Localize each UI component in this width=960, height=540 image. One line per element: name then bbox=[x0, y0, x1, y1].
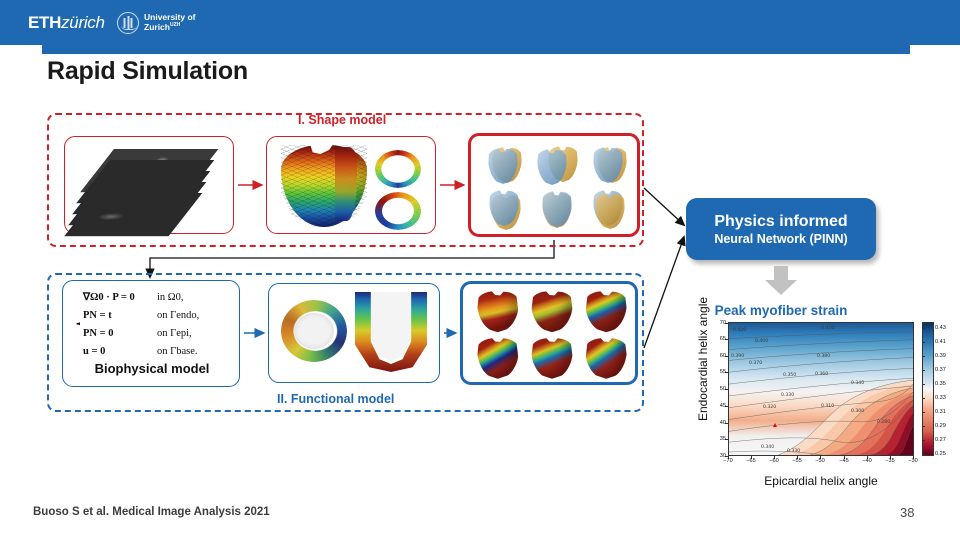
fiber-strain-grid bbox=[472, 290, 632, 380]
colorbar-tickmark bbox=[922, 384, 925, 385]
y-tick-label: 55 bbox=[716, 369, 726, 375]
contour-label: 0.360 bbox=[815, 372, 828, 377]
contour-label: 0.390 bbox=[731, 354, 744, 359]
pinn-title: Physics informed bbox=[714, 213, 847, 231]
functional-model-label: II. Functional model bbox=[277, 392, 394, 406]
contour-label: 0.340 bbox=[761, 445, 774, 450]
equation-row: PN = t on Γendo, bbox=[83, 306, 233, 324]
equation-rhs: on Γepi, bbox=[157, 328, 192, 339]
biophysical-model-panel[interactable]: { ∇Ω0 · P = 0 in Ω0, PN = t on Γendo, PN… bbox=[62, 280, 240, 387]
equation-rhs: on Γbase. bbox=[157, 346, 197, 357]
shape-modes-grid bbox=[480, 144, 634, 230]
down-arrow-icon bbox=[763, 266, 799, 296]
y-tick-label: 35 bbox=[716, 436, 726, 442]
equation-row: u = 0 on Γbase. bbox=[83, 342, 233, 360]
colorbar-tick-label: 0.25 bbox=[935, 451, 946, 457]
y-tick-label: 50 bbox=[716, 386, 726, 392]
colorbar-tick-label: 0.31 bbox=[935, 409, 946, 415]
university-of-zurich-logo: University of ZurichUZH bbox=[117, 12, 196, 34]
pinn-subtitle: Neural Network (PINN) bbox=[714, 232, 847, 246]
eth-logo-italic: zürich bbox=[61, 13, 105, 32]
colorbar-tickmark bbox=[922, 426, 925, 427]
contour-label: 0.350 bbox=[783, 373, 796, 378]
contour-label: 0.410 bbox=[821, 326, 834, 331]
colorbar-tick-label: 0.29 bbox=[935, 423, 946, 429]
y-tick-label: 70 bbox=[716, 320, 726, 326]
equation-row: ∇Ω0 · P = 0 in Ω0, bbox=[83, 288, 233, 306]
contour-label: 0.380 bbox=[817, 354, 830, 359]
contour-label: 0.330 bbox=[787, 449, 800, 454]
x-tick-label: −60 bbox=[769, 458, 779, 464]
equation-system: { ∇Ω0 · P = 0 in Ω0, PN = t on Γendo, PN… bbox=[71, 288, 233, 360]
shape-thumbnail bbox=[537, 190, 577, 228]
shape-thumbnail bbox=[589, 146, 629, 184]
fiber-strain-thumbnail bbox=[477, 291, 519, 332]
colorbar-tickmark bbox=[922, 370, 925, 371]
contour-plot-frame: 0.420 0.410 0.400 0.390 0.380 0.370 0.35… bbox=[728, 322, 914, 456]
colorbar-tickmark bbox=[922, 356, 925, 357]
deformed-lv-panel[interactable] bbox=[268, 283, 440, 383]
fiber-strain-thumbnail bbox=[585, 291, 627, 332]
colorbar-tickmark bbox=[922, 412, 925, 413]
contour-label: 0.300 bbox=[851, 409, 864, 414]
colorbar-tickmark bbox=[922, 398, 925, 399]
chart-title: Peak myofiber strain bbox=[686, 303, 876, 318]
equation-lhs: PN = t bbox=[83, 310, 157, 321]
contour-label: 0.310 bbox=[821, 404, 834, 409]
short-axis-ring-top bbox=[375, 150, 421, 188]
eth-zurich-logo: ETHzürich bbox=[28, 13, 105, 33]
chart-y-axis-label: Endocardial helix angle bbox=[696, 289, 710, 429]
shape-mesh-panel[interactable] bbox=[266, 136, 436, 234]
contour-label: 0.420 bbox=[733, 328, 746, 333]
x-tick-label: −30 bbox=[908, 458, 918, 464]
equation-rhs: on Γendo, bbox=[157, 310, 199, 321]
fiber-strain-thumbnail bbox=[531, 291, 573, 332]
colorbar-tick-label: 0.43 bbox=[935, 325, 946, 331]
contour-label: 0.340 bbox=[851, 381, 864, 386]
colorbar-tick-label: 0.37 bbox=[935, 367, 946, 373]
y-tick-label: 60 bbox=[716, 353, 726, 359]
slide-root: ETHzürich University of ZurichUZH Rapid … bbox=[0, 0, 960, 540]
lv-long-cavity bbox=[371, 292, 411, 364]
colorbar-tickmark bbox=[922, 342, 925, 343]
colorbar-tickmark bbox=[922, 440, 925, 441]
uzh-superscript: UZH bbox=[170, 22, 180, 28]
contour-label: 0.370 bbox=[749, 361, 762, 366]
shape-modes-panel[interactable] bbox=[468, 133, 640, 237]
footer-citation: Buoso S et al. Medical Image Analysis 20… bbox=[33, 506, 270, 518]
colorbar-tick-label: 0.27 bbox=[935, 437, 946, 443]
fiber-strain-panel[interactable] bbox=[460, 281, 638, 385]
uzh-logo-text: University of ZurichUZH bbox=[144, 13, 196, 32]
x-tick-label: −50 bbox=[815, 458, 825, 464]
page-title: Rapid Simulation bbox=[47, 57, 248, 86]
mri-slices-panel[interactable] bbox=[64, 136, 234, 234]
equation-rows: ∇Ω0 · P = 0 in Ω0, PN = t on Γendo, PN =… bbox=[83, 288, 233, 360]
header-notch bbox=[42, 45, 910, 54]
fiber-strain-thumbnail bbox=[585, 338, 627, 379]
colorbar-tick-label: 0.39 bbox=[935, 353, 946, 359]
biophysical-model-caption: Biophysical model bbox=[63, 361, 241, 376]
shape-thumbnail bbox=[589, 190, 629, 228]
lv-cavity bbox=[294, 313, 334, 349]
x-tick-label: −40 bbox=[862, 458, 872, 464]
x-tick-label: −65 bbox=[746, 458, 756, 464]
pinn-box[interactable]: Physics informed Neural Network (PINN) bbox=[686, 198, 876, 260]
y-tick-label: 40 bbox=[716, 420, 726, 426]
colorbar-tickmark bbox=[922, 454, 925, 455]
equation-lhs: ∇Ω0 · P = 0 bbox=[83, 291, 157, 303]
equation-rhs: in Ω0, bbox=[157, 292, 183, 303]
x-tick-label: −35 bbox=[885, 458, 895, 464]
page-number: 38 bbox=[900, 505, 914, 520]
peak-myofiber-strain-chart[interactable]: Endocardial helix angle Epicardial helix… bbox=[672, 318, 950, 498]
uzh-line2: Zurich bbox=[144, 22, 170, 32]
short-axis-ring-bottom bbox=[375, 192, 421, 230]
equation-row: PN = 0 on Γepi, bbox=[83, 324, 233, 342]
x-tick-label: −45 bbox=[839, 458, 849, 464]
uzh-line2-wrap: ZurichUZH bbox=[144, 23, 196, 33]
contour-label: 0.320 bbox=[763, 405, 776, 410]
y-tick-label: 45 bbox=[716, 403, 726, 409]
equation-lhs: PN = 0 bbox=[83, 328, 157, 339]
colorbar-tick-label: 0.35 bbox=[935, 381, 946, 387]
y-tick-label: 30 bbox=[716, 453, 726, 459]
eth-logo-bold: ETH bbox=[28, 13, 61, 32]
shape-model-label: I. Shape model bbox=[298, 113, 386, 127]
mri-stack-icon bbox=[83, 149, 217, 225]
x-tick-label: −55 bbox=[792, 458, 802, 464]
fiber-strain-thumbnail bbox=[531, 338, 573, 379]
contour-label: 0.280 bbox=[877, 420, 890, 425]
chart-x-axis-label: Epicardial helix angle bbox=[728, 474, 914, 488]
y-tick-label: 65 bbox=[716, 336, 726, 342]
contour-label: 0.400 bbox=[755, 339, 768, 344]
colorbar-tick-label: 0.41 bbox=[935, 339, 946, 345]
fiber-strain-thumbnail bbox=[477, 338, 519, 379]
equation-lhs: u = 0 bbox=[83, 346, 157, 357]
colorbar-tick-label: 0.33 bbox=[935, 395, 946, 401]
contour-label: 0.330 bbox=[781, 393, 794, 398]
brace-glyph: { bbox=[71, 288, 80, 360]
shape-thumbnail bbox=[485, 146, 525, 184]
colorbar-tickmark bbox=[922, 328, 925, 329]
shape-thumbnail bbox=[485, 190, 525, 228]
uzh-seal-icon bbox=[117, 12, 139, 34]
lv-long-axis-icon bbox=[355, 292, 427, 372]
shape-thumbnail bbox=[537, 146, 577, 184]
